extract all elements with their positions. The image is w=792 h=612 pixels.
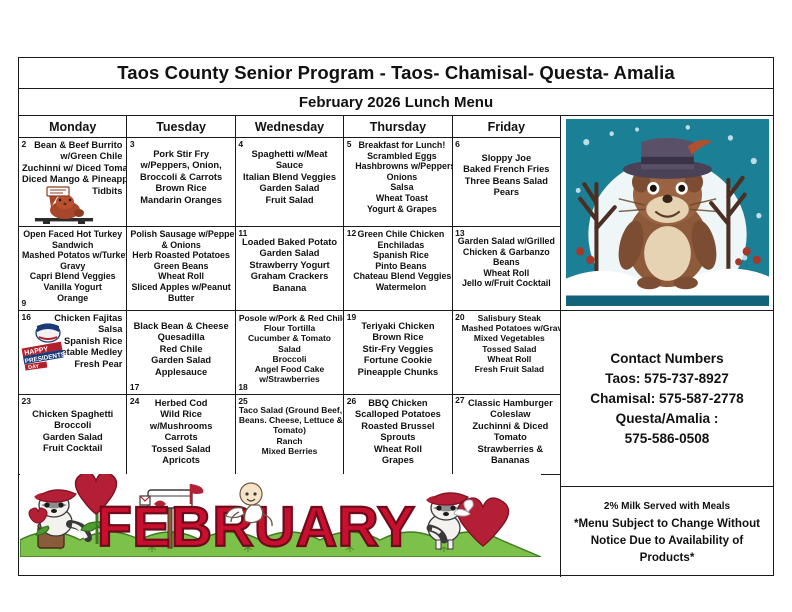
menu-items: Green Chile Chicken Enchiladas Spanish R… xyxy=(347,228,448,293)
menu-line: Scalloped Potatoes xyxy=(347,409,448,420)
menu-line: Mashed Potatos w/Turkey xyxy=(22,250,123,261)
day-cell-11[interactable]: 11 Loaded Baked Potato Garden Salad Stra… xyxy=(236,227,344,310)
day-number: 25 xyxy=(238,397,247,406)
menu-line: Tossed Salad xyxy=(130,444,231,455)
day-number: 5 xyxy=(347,140,352,149)
menu-line: Vanilla Yogurt xyxy=(22,282,123,293)
menu-line: Zuchinni w/ Diced Tomatos xyxy=(22,163,122,174)
menu-line: Pork Stir Fry xyxy=(130,149,231,160)
menu-line: Tomato) xyxy=(239,425,340,435)
menu-line: Garden Salad xyxy=(22,432,123,443)
february-banner-illustration-icon: FEBRUARY xyxy=(20,474,541,557)
menu-line: Diced Mango & Pineapple xyxy=(22,174,122,185)
program-title-row: Taos County Senior Program - Taos- Chami… xyxy=(19,58,773,89)
menu-line: Pineapple Chunks xyxy=(347,367,448,378)
menu-line: Taco Salad (Ground Beef, xyxy=(239,405,340,415)
menu-line: Garden Salad xyxy=(130,355,231,366)
menu-line: Jello w/Fruit Cocktail xyxy=(456,278,557,289)
day-cell-13[interactable]: 13 Garden Salad w/Grilled Chicken & Garb… xyxy=(453,227,560,310)
menu-items: Open Faced Hot Turkey Sandwich Mashed Po… xyxy=(22,228,123,303)
menu-line: Baked French Fries xyxy=(456,164,557,175)
menu-line: Mandarin Oranges xyxy=(130,195,231,206)
contact-taos: Taos: 575-737-8927 xyxy=(590,369,743,389)
menu-line: Angel Food Cake xyxy=(239,364,340,374)
day-number: 26 xyxy=(347,397,356,406)
menu-line: Apricots xyxy=(130,455,231,466)
day-cell-27[interactable]: 27 Classic Hamburger Coleslaw Zuchinni &… xyxy=(453,395,560,474)
day-number: 12 xyxy=(347,229,356,238)
weekday-thursday: Thursday xyxy=(344,116,452,138)
menu-line: Green Chile Chicken xyxy=(353,229,448,240)
menu-items: Posole w/Pork & Red Chile Flour Tortilla… xyxy=(239,312,340,384)
menu-line: Broccoli & Carrots xyxy=(130,172,231,183)
menu-line: Mixed Vegetables xyxy=(462,333,557,343)
menu-line: Sprouts xyxy=(347,432,448,443)
menu-line: Chicken Spaghetti xyxy=(22,409,123,420)
menu-line: Graham Crackers xyxy=(239,271,340,282)
menu-line: Wild Rice xyxy=(130,409,231,420)
menu-line: Teriyaki Chicken xyxy=(347,321,448,332)
menu-line: Spaghetti w/Meat xyxy=(239,149,340,160)
menu-line: Ranch xyxy=(239,436,340,446)
weekday-wednesday: Wednesday xyxy=(236,116,344,138)
menu-line: Pears xyxy=(456,187,557,198)
contact-questa-amalia-number: 575-586-0508 xyxy=(590,429,743,449)
contact-heading: Contact Numbers xyxy=(590,349,743,369)
day-cell-5[interactable]: 5 Breakfast for Lunch! Scrambled Eggs Ha… xyxy=(344,138,452,226)
menu-line: Wheat Roll xyxy=(456,268,557,279)
day-cell-12[interactable]: 12 Green Chile Chicken Enchiladas Spanis… xyxy=(344,227,452,310)
menu-line: Pinto Beans xyxy=(353,261,448,272)
menu-line: Cucumber & Tomato xyxy=(239,333,340,343)
day-number: 20 xyxy=(455,313,464,322)
menu-line: Garden Salad xyxy=(239,183,340,194)
menu-disclaimer-block: 2% Milk Served with Meals *Menu Subject … xyxy=(561,487,773,577)
page-title: Taos County Senior Program - Taos- Chami… xyxy=(117,62,675,84)
menu-line: Roasted Brussel xyxy=(347,421,448,432)
menu-line: Tossed Salad xyxy=(462,344,557,354)
menu-line: Beans xyxy=(456,257,557,268)
menu-line: Wheat Toast xyxy=(355,193,448,204)
menu-line: Banana xyxy=(239,283,340,294)
menu-line: Broccoli xyxy=(239,354,340,364)
menu-line: Orange xyxy=(22,293,123,304)
menu-line: Zuchinni & Diced xyxy=(464,421,557,432)
weekday-tuesday: Tuesday xyxy=(127,116,235,138)
menu-line: Brown Rice xyxy=(347,332,448,343)
day-number: 17 xyxy=(130,383,139,392)
menu-line: Flour Tortilla xyxy=(239,323,340,333)
milk-note: 2% Milk Served with Meals xyxy=(574,498,760,515)
menu-line: w/Mushrooms xyxy=(130,421,231,432)
day-cell-19[interactable]: 19 Teriyaki Chicken Brown Rice Stir-Fry … xyxy=(344,311,452,394)
week-row: 16 Chicken Fajitas Salsa Spanish Rice Ve… xyxy=(19,311,560,395)
menu-line: Onions xyxy=(355,172,448,183)
menu-line: Salisbury Steak xyxy=(462,313,557,323)
month-subtitle: February 2026 Lunch Menu xyxy=(299,94,493,111)
svg-text:DAY: DAY xyxy=(28,364,40,372)
february-banner: FEBRUARY xyxy=(20,474,541,557)
sidebar-column: Contact Numbers Taos: 575-737-8927 Chami… xyxy=(560,116,773,577)
groundhog-day-illustration-icon xyxy=(566,119,769,306)
menu-line: Chicken & Garbanzo xyxy=(456,247,557,258)
menu-line: Salad xyxy=(239,344,340,354)
week-row: 9 Open Faced Hot Turkey Sandwich Mashed … xyxy=(19,227,560,311)
day-number: 27 xyxy=(455,396,464,405)
menu-line: Yogurt & Grapes xyxy=(355,204,448,215)
day-cell-6[interactable]: 6 Sloppy Joe Baked French Fries Three Be… xyxy=(453,138,560,226)
menu-items: Taco Salad (Ground Beef, Beans. Cheese, … xyxy=(239,396,340,456)
day-number: 4 xyxy=(238,140,243,149)
day-cell-20[interactable]: 20 Salisbury Steak Mashed Potatoes w/Gra… xyxy=(453,311,560,394)
menu-line: Posole w/Pork & Red Chile xyxy=(239,313,340,323)
menu-line: Breakfast for Lunch! xyxy=(355,140,448,151)
menu-line: Strawberry Yogurt xyxy=(239,260,340,271)
menu-line: Fresh Fruit Salad xyxy=(462,364,557,374)
menu-line: Polish Sausage w/Peppers xyxy=(130,229,231,240)
day-cell-23[interactable]: 23 Chicken Spaghetti Broccoli Garden Sal… xyxy=(19,395,127,474)
day-number: 11 xyxy=(238,229,247,238)
day-cell-18[interactable]: 18 Posole w/Pork & Red Chile Flour Torti… xyxy=(236,311,344,394)
contact-text: Contact Numbers Taos: 575-737-8927 Chami… xyxy=(590,349,743,449)
weekday-header-row: Monday Tuesday Wednesday Thursday Friday xyxy=(19,116,560,138)
menu-items: Pork Stir Fry w/Peppers, Onion, Broccoli… xyxy=(130,139,231,206)
menu-line: BBQ Chicken xyxy=(347,398,448,409)
menu-line: Broccoli xyxy=(22,420,123,431)
menu-line: Gravy xyxy=(22,261,123,272)
menu-line: Strawberries & xyxy=(464,444,557,455)
menu-items: Salisbury Steak Mashed Potatoes w/Gravy … xyxy=(456,312,557,374)
menu-line: Sauce xyxy=(239,160,340,171)
menu-line: & Onions xyxy=(130,240,231,251)
menu-line: w/Strawberries xyxy=(239,374,340,384)
menu-line: Sandwich xyxy=(22,240,123,251)
menu-line: Brown Rice xyxy=(130,183,231,194)
menu-items: BBQ Chicken Scalloped Potatoes Roasted B… xyxy=(347,396,448,466)
disclaimer-line: Products* xyxy=(574,549,760,566)
day-cell-24[interactable]: 24 Herbed Cod Wild Rice w/Mushrooms Carr… xyxy=(127,395,235,474)
menu-line: Garden Salad w/Grilled xyxy=(456,236,557,247)
menu-items: Chicken Spaghetti Broccoli Garden Salad … xyxy=(22,396,123,455)
menu-line: Black Bean & Cheese xyxy=(130,321,231,332)
weekday-friday: Friday xyxy=(453,116,560,138)
menu-items: Breakfast for Lunch! Scrambled Eggs Hash… xyxy=(347,139,448,214)
menu-line: Loaded Baked Potato xyxy=(239,237,340,248)
weekday-monday: Monday xyxy=(19,116,127,138)
menu-line: Red Chile xyxy=(130,344,231,355)
day-cell-10[interactable]: 10 Polish Sausage w/Peppers & Onions Her… xyxy=(127,227,235,310)
menu-line: Scrambled Eggs xyxy=(355,151,448,162)
menu-line: Salsa xyxy=(355,182,448,193)
menu-line: Chateau Blend Veggies xyxy=(353,271,448,282)
menu-line: Bean & Beef Burrito xyxy=(22,140,122,151)
day-number: 18 xyxy=(238,383,247,392)
menu-items: Sloppy Joe Baked French Fries Three Bean… xyxy=(456,139,557,199)
contact-numbers-block: Contact Numbers Taos: 575-737-8927 Chami… xyxy=(561,311,773,487)
day-cell-2[interactable]: 2 Bean & Beef Burrito w/Green Chile Zuch… xyxy=(19,138,127,226)
menu-line: Carrots xyxy=(130,432,231,443)
menu-line: Fortune Cookie xyxy=(347,355,448,366)
day-cell-9[interactable]: 9 Open Faced Hot Turkey Sandwich Mashed … xyxy=(19,227,127,310)
menu-line: Capri Blend Veggies xyxy=(22,271,123,282)
menu-line: Bananas xyxy=(464,455,557,466)
menu-line: Sliced Apples w/Peanut xyxy=(130,282,231,293)
menu-items: Polish Sausage w/Peppers & Onions Herb R… xyxy=(130,228,231,303)
day-cell-26[interactable]: 26 BBQ Chicken Scalloped Potatoes Roaste… xyxy=(344,395,452,474)
menu-line: Stir-Fry Veggies xyxy=(347,344,448,355)
presidents-day-clipart-icon: HAPPY PRESIDENTS DAY xyxy=(21,319,67,375)
day-number: 13 xyxy=(455,229,464,238)
day-number: 19 xyxy=(347,313,356,322)
menu-line: Mashed Potatoes w/Gravy xyxy=(462,323,557,333)
menu-line: Classic Hamburger xyxy=(464,398,557,409)
menu-line: w/Peppers, Onion, xyxy=(130,160,231,171)
day-number: 6 xyxy=(455,140,460,149)
menu-line: Watermelon xyxy=(353,282,448,293)
menu-line: Coleslaw xyxy=(464,409,557,420)
day-cell-4[interactable]: 4 Spaghetti w/Meat Sauce Italian Blend V… xyxy=(236,138,344,226)
menu-items: Loaded Baked Potato Garden Salad Strawbe… xyxy=(239,228,340,294)
day-number: 23 xyxy=(22,397,31,406)
menu-line: Spanish Rice xyxy=(353,250,448,261)
day-cell-17[interactable]: 17 Black Bean & Cheese Quesadilla Red Ch… xyxy=(127,311,235,394)
day-number: 2 xyxy=(22,140,27,149)
disclaimer-text: 2% Milk Served with Meals *Menu Subject … xyxy=(574,498,760,566)
groundhog-illustration-cell xyxy=(561,116,773,311)
menu-items: Spaghetti w/Meat Sauce Italian Blend Veg… xyxy=(239,139,340,206)
groundhog-clipart-icon xyxy=(29,185,101,225)
menu-line: Mixed Berries xyxy=(239,446,340,456)
menu-line: Applesauce xyxy=(130,367,231,378)
menu-line: Quesadilla xyxy=(130,332,231,343)
menu-line: Tomato xyxy=(464,432,557,443)
disclaimer-line: Notice Due to Availability of xyxy=(574,532,760,549)
week-row: 2 Bean & Beef Burrito w/Green Chile Zuch… xyxy=(19,138,560,227)
week-row: 23 Chicken Spaghetti Broccoli Garden Sal… xyxy=(19,395,560,475)
menu-line: Sloppy Joe xyxy=(456,153,557,164)
menu-line: Wheat Roll xyxy=(347,444,448,455)
menu-line: Hashbrowns w/Peppers & xyxy=(355,161,448,172)
menu-line: Green Beans xyxy=(130,261,231,272)
menu-items: Garden Salad w/Grilled Chicken & Garbanz… xyxy=(456,228,557,289)
menu-line: Grapes xyxy=(347,455,448,466)
menu-line: Three Beans Salad xyxy=(456,176,557,187)
menu-items: Teriyaki Chicken Brown Rice Stir-Fry Veg… xyxy=(347,312,448,378)
day-cell-3[interactable]: 3 Pork Stir Fry w/Peppers, Onion, Brocco… xyxy=(127,138,235,226)
month-subtitle-row: February 2026 Lunch Menu xyxy=(19,89,773,116)
menu-line: Fruit Salad xyxy=(239,195,340,206)
contact-questa-amalia-label: Questa/Amalia : xyxy=(590,409,743,429)
calendar-page: Taos County Senior Program - Taos- Chami… xyxy=(0,0,792,612)
menu-line: Fruit Cocktail xyxy=(22,443,123,454)
menu-line: Wheat Roll xyxy=(130,271,231,282)
day-number: 24 xyxy=(130,397,139,406)
menu-line: Herb Roasted Potatoes xyxy=(130,250,231,261)
menu-line: Garden Salad xyxy=(239,248,340,259)
menu-line: Italian Blend Veggies xyxy=(239,172,340,183)
menu-line: Beans. Cheese, Lettuce & xyxy=(239,415,340,425)
menu-items: Black Bean & Cheese Quesadilla Red Chile… xyxy=(130,312,231,378)
menu-line: Enchiladas xyxy=(353,240,448,251)
menu-items: Classic Hamburger Coleslaw Zuchinni & Di… xyxy=(456,396,557,466)
disclaimer-line: *Menu Subject to Change Without xyxy=(574,515,760,532)
menu-items: Herbed Cod Wild Rice w/Mushrooms Carrots… xyxy=(130,396,231,466)
menu-line: Wheat Roll xyxy=(462,354,557,364)
menu-line: Herbed Cod xyxy=(130,398,231,409)
contact-chamisal: Chamisal: 575-587-2778 xyxy=(590,389,743,409)
day-cell-16[interactable]: 16 Chicken Fajitas Salsa Spanish Rice Ve… xyxy=(19,311,127,394)
menu-line: Open Faced Hot Turkey xyxy=(22,229,123,240)
menu-line: Butter xyxy=(130,293,231,304)
day-number: 9 xyxy=(22,299,27,308)
day-number: 3 xyxy=(130,140,135,149)
day-cell-25[interactable]: 25 Taco Salad (Ground Beef, Beans. Chees… xyxy=(236,395,344,474)
menu-line: w/Green Chile xyxy=(22,151,122,162)
